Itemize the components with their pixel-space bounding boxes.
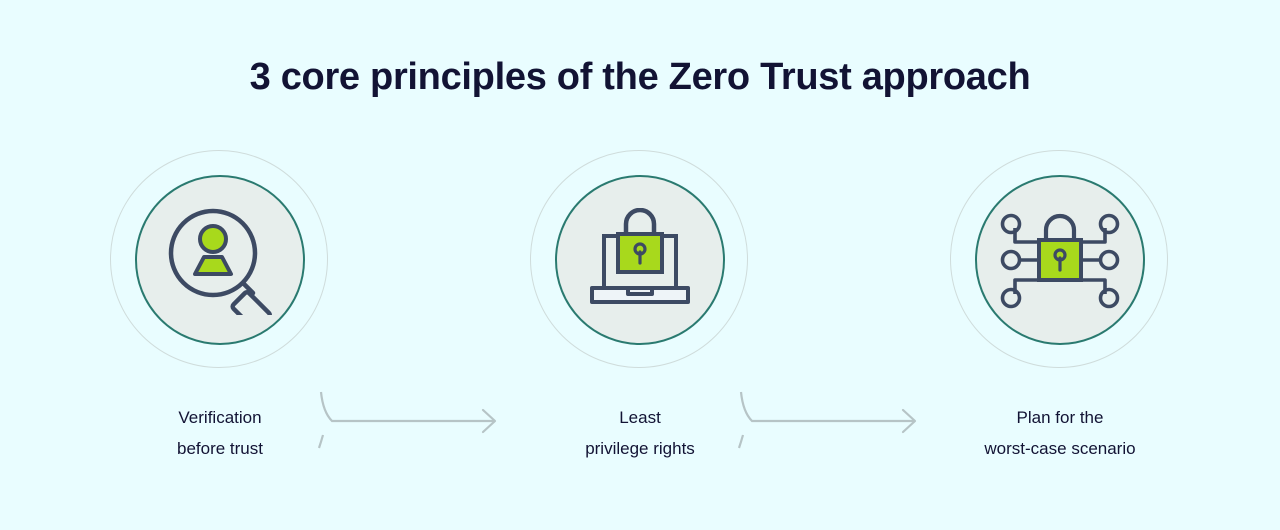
person-magnifier-icon bbox=[161, 205, 279, 315]
inner-ring bbox=[975, 175, 1145, 345]
icon-badge bbox=[950, 150, 1170, 370]
connector-arrow-1 bbox=[318, 390, 513, 450]
principle-step-worst-case: Plan for the worst-case scenario bbox=[940, 150, 1180, 480]
infographic-page: 3 core principles of the Zero Trust appr… bbox=[0, 0, 1280, 530]
principles-row: Verification before trust bbox=[0, 150, 1280, 480]
icon-badge bbox=[530, 150, 750, 370]
step-caption: Plan for the worst-case scenario bbox=[920, 402, 1200, 464]
page-title: 3 core principles of the Zero Trust appr… bbox=[0, 52, 1280, 102]
laptop-lock-icon bbox=[580, 208, 700, 312]
icon-badge bbox=[110, 150, 330, 370]
caption-line-2: worst-case scenario bbox=[920, 433, 1200, 464]
inner-ring bbox=[135, 175, 305, 345]
principle-step-verification: Verification before trust bbox=[100, 150, 340, 480]
principle-step-least-privilege: Least privilege rights bbox=[520, 150, 760, 480]
caption-line-1: Plan for the bbox=[920, 402, 1200, 433]
connector-arrow-2 bbox=[738, 390, 933, 450]
inner-ring bbox=[555, 175, 725, 345]
network-lock-icon bbox=[996, 210, 1124, 310]
